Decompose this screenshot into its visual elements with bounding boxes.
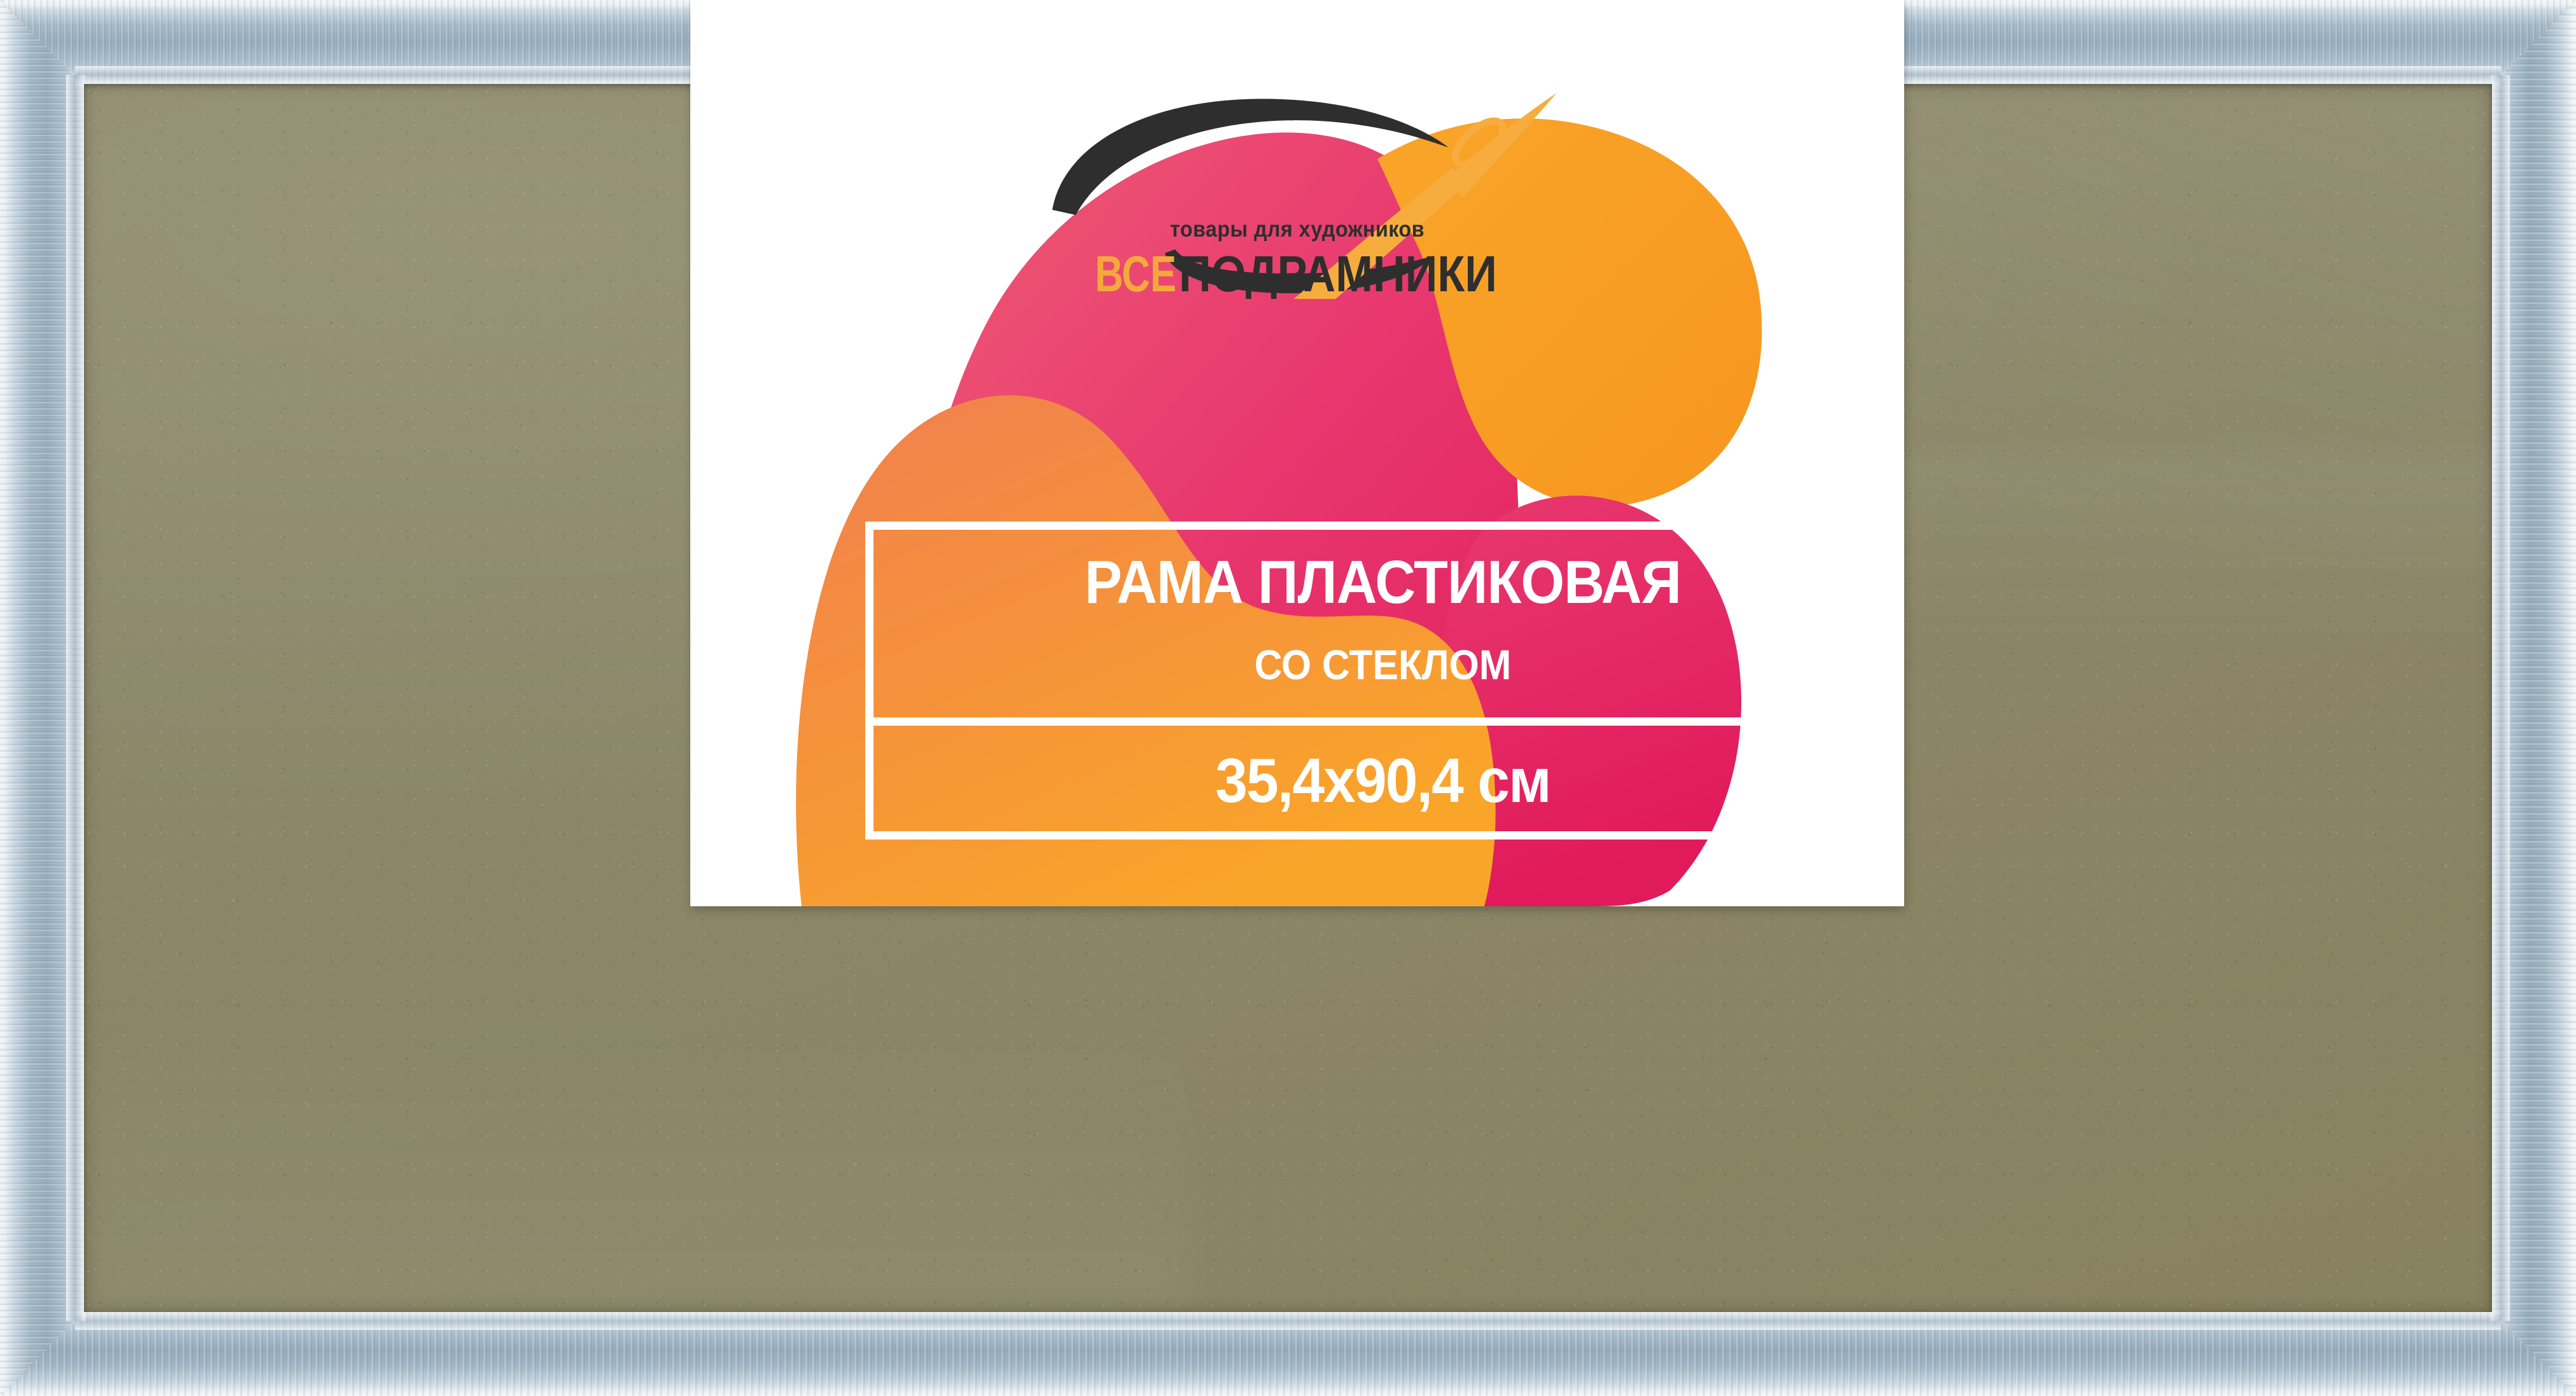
paintbrush-tip-icon (1448, 113, 1510, 173)
swoosh-top-icon (1052, 99, 1449, 215)
logo-brand-prefix: ВСЕ (1095, 245, 1176, 299)
frame-rail-bottom (0, 1312, 2576, 1396)
spec-size: 35,4x90,4 см (902, 749, 1864, 812)
spec-box-divider (865, 717, 1900, 726)
logo-brand-main: ПОДРАМНИКИ (1179, 245, 1497, 299)
logo-tagline: товары для художников (1170, 217, 1424, 242)
product-label: товары для художников ВСЕ ПОДРАМНИКИ РАМ… (690, 0, 1904, 906)
frame-rail-left (0, 0, 84, 1396)
brand-logo: товары для художников ВСЕ ПОДРАМНИКИ (1017, 89, 1577, 299)
frame-rail-right (2492, 0, 2576, 1396)
glass-reflection-lower (84, 993, 1192, 1312)
spec-title: РАМА ПЛАСТИКОВАЯ (907, 552, 1859, 613)
spec-subtitle: СО СТЕКЛОМ (907, 644, 1859, 686)
product-photo: товары для художников ВСЕ ПОДРАМНИКИ РАМ… (0, 0, 2576, 1396)
